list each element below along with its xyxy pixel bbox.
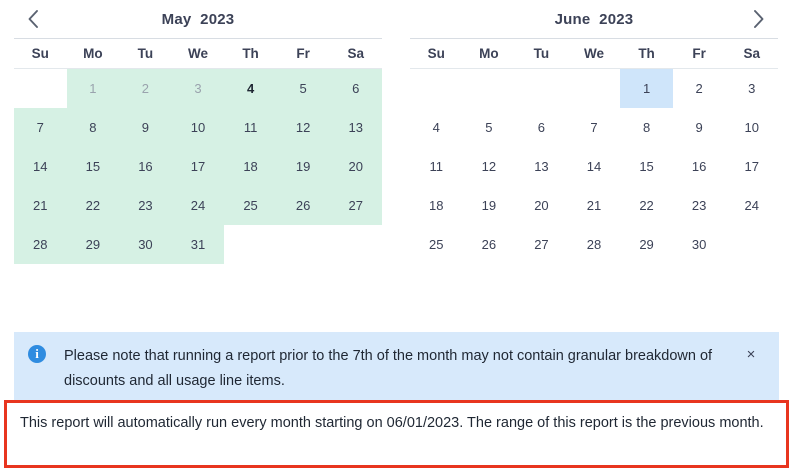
weekday-tu: Tu xyxy=(515,39,568,68)
day-cell[interactable]: 11 xyxy=(224,108,277,147)
chevron-left-icon xyxy=(25,8,41,30)
weekday-mo: Mo xyxy=(463,39,516,68)
day-cell[interactable]: 16 xyxy=(673,147,726,186)
info-banner: i Please note that running a report prio… xyxy=(14,332,779,406)
day-cell[interactable]: 15 xyxy=(67,147,120,186)
calendar-month-left: May 2023 Su Mo Tu We Th Fr Sa 1234567891… xyxy=(0,0,396,300)
day-cell[interactable]: 13 xyxy=(515,147,568,186)
day-cell[interactable]: 2 xyxy=(119,69,172,108)
day-cell[interactable]: 19 xyxy=(463,186,516,225)
day-cell[interactable]: 22 xyxy=(620,186,673,225)
day-cell[interactable]: 22 xyxy=(67,186,120,225)
weekday-su: Su xyxy=(14,39,67,68)
day-cell[interactable]: 14 xyxy=(568,147,621,186)
day-cell[interactable]: 1 xyxy=(67,69,120,108)
day-cell-empty xyxy=(463,69,516,108)
day-cell[interactable]: 5 xyxy=(463,108,516,147)
month-title-left: May 2023 xyxy=(162,11,235,28)
day-cell-empty xyxy=(224,225,277,264)
date-range-picker: May 2023 Su Mo Tu We Th Fr Sa 1234567891… xyxy=(0,0,793,300)
weekday-mo: Mo xyxy=(67,39,120,68)
day-cell-empty xyxy=(277,225,330,264)
day-cell[interactable]: 12 xyxy=(463,147,516,186)
month-header-right: June 2023 xyxy=(396,0,792,38)
day-cell[interactable]: 11 xyxy=(410,147,463,186)
day-cell[interactable]: 18 xyxy=(224,147,277,186)
day-cell[interactable]: 29 xyxy=(67,225,120,264)
day-cell-empty xyxy=(568,69,621,108)
weekday-header-right: Su Mo Tu We Th Fr Sa xyxy=(410,38,778,69)
info-banner-message: Please note that running a report prior … xyxy=(46,344,742,394)
day-cell[interactable]: 8 xyxy=(67,108,120,147)
schedule-note-message: This report will automatically run every… xyxy=(20,415,764,431)
day-cell[interactable]: 4 xyxy=(410,108,463,147)
day-cell[interactable]: 12 xyxy=(277,108,330,147)
close-icon[interactable]: × xyxy=(742,345,760,363)
day-cell[interactable]: 26 xyxy=(277,186,330,225)
day-cell[interactable]: 4 xyxy=(224,69,277,108)
day-cell[interactable]: 18 xyxy=(410,186,463,225)
day-cell[interactable]: 17 xyxy=(725,147,778,186)
day-cell[interactable]: 8 xyxy=(620,108,673,147)
day-cell[interactable]: 16 xyxy=(119,147,172,186)
day-cell[interactable]: 7 xyxy=(14,108,67,147)
day-cell[interactable]: 26 xyxy=(463,225,516,264)
schedule-note: This report will automatically run every… xyxy=(4,400,789,468)
weekday-header-left: Su Mo Tu We Th Fr Sa xyxy=(14,38,382,69)
month-title-right: June 2023 xyxy=(555,11,634,28)
day-cell[interactable]: 25 xyxy=(224,186,277,225)
day-cell[interactable]: 10 xyxy=(172,108,225,147)
day-cell[interactable]: 21 xyxy=(568,186,621,225)
day-cell[interactable]: 9 xyxy=(119,108,172,147)
day-cell[interactable]: 28 xyxy=(568,225,621,264)
weekday-th: Th xyxy=(620,39,673,68)
day-cell[interactable]: 29 xyxy=(620,225,673,264)
day-cell[interactable]: 6 xyxy=(329,69,382,108)
day-grid-right: 1234567891011121314151617181920212223242… xyxy=(410,69,778,264)
weekday-fr: Fr xyxy=(673,39,726,68)
day-cell[interactable]: 3 xyxy=(172,69,225,108)
day-cell[interactable]: 19 xyxy=(277,147,330,186)
day-cell-empty xyxy=(329,225,382,264)
chevron-right-icon xyxy=(751,8,767,30)
weekday-th: Th xyxy=(224,39,277,68)
weekday-sa: Sa xyxy=(725,39,778,68)
day-cell[interactable]: 24 xyxy=(172,186,225,225)
day-cell[interactable]: 24 xyxy=(725,186,778,225)
day-cell[interactable]: 23 xyxy=(673,186,726,225)
weekday-we: We xyxy=(172,39,225,68)
day-cell[interactable]: 27 xyxy=(515,225,568,264)
day-cell[interactable]: 7 xyxy=(568,108,621,147)
day-cell[interactable]: 10 xyxy=(725,108,778,147)
day-cell[interactable]: 9 xyxy=(673,108,726,147)
day-cell[interactable]: 28 xyxy=(14,225,67,264)
day-cell[interactable]: 20 xyxy=(515,186,568,225)
day-cell-empty xyxy=(410,69,463,108)
day-cell[interactable]: 21 xyxy=(14,186,67,225)
day-cell[interactable]: 25 xyxy=(410,225,463,264)
day-cell[interactable]: 3 xyxy=(725,69,778,108)
day-cell[interactable]: 1 xyxy=(620,69,673,108)
day-cell-empty xyxy=(725,225,778,264)
day-cell[interactable]: 30 xyxy=(673,225,726,264)
weekday-sa: Sa xyxy=(329,39,382,68)
day-cell[interactable]: 31 xyxy=(172,225,225,264)
weekday-su: Su xyxy=(410,39,463,68)
day-cell[interactable]: 15 xyxy=(620,147,673,186)
day-cell[interactable]: 6 xyxy=(515,108,568,147)
day-cell[interactable]: 2 xyxy=(673,69,726,108)
day-cell[interactable]: 5 xyxy=(277,69,330,108)
weekday-we: We xyxy=(568,39,621,68)
day-cell[interactable]: 13 xyxy=(329,108,382,147)
day-cell[interactable]: 23 xyxy=(119,186,172,225)
day-cell[interactable]: 17 xyxy=(172,147,225,186)
next-month-button[interactable] xyxy=(744,4,774,34)
calendar-month-right: June 2023 Su Mo Tu We Th Fr Sa 123456789… xyxy=(396,0,792,300)
weekday-fr: Fr xyxy=(277,39,330,68)
prev-month-button[interactable] xyxy=(18,4,48,34)
day-grid-left: 1234567891011121314151617181920212223242… xyxy=(14,69,382,264)
info-circle-icon: i xyxy=(28,345,46,363)
day-cell-empty xyxy=(515,69,568,108)
month-header-left: May 2023 xyxy=(0,0,396,38)
weekday-tu: Tu xyxy=(119,39,172,68)
day-cell-empty xyxy=(14,69,67,108)
day-cell[interactable]: 14 xyxy=(14,147,67,186)
day-cell[interactable]: 27 xyxy=(329,186,382,225)
day-cell[interactable]: 20 xyxy=(329,147,382,186)
day-cell[interactable]: 30 xyxy=(119,225,172,264)
